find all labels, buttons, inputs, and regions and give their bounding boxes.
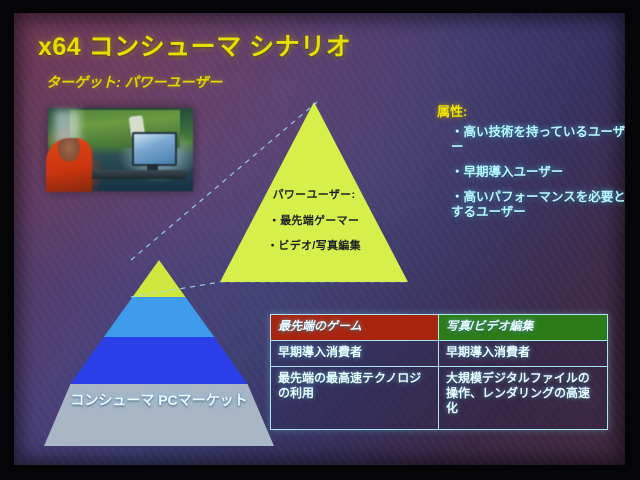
presentation-slide: x64 コンシューマ シナリオ ターゲット: パワーユーザー コンシューマ PC… — [14, 13, 625, 465]
zoom-connector-lines — [14, 13, 625, 465]
screenshot-root: x64 コンシューマ シナリオ ターゲット: パワーユーザー コンシューマ PC… — [0, 0, 640, 480]
